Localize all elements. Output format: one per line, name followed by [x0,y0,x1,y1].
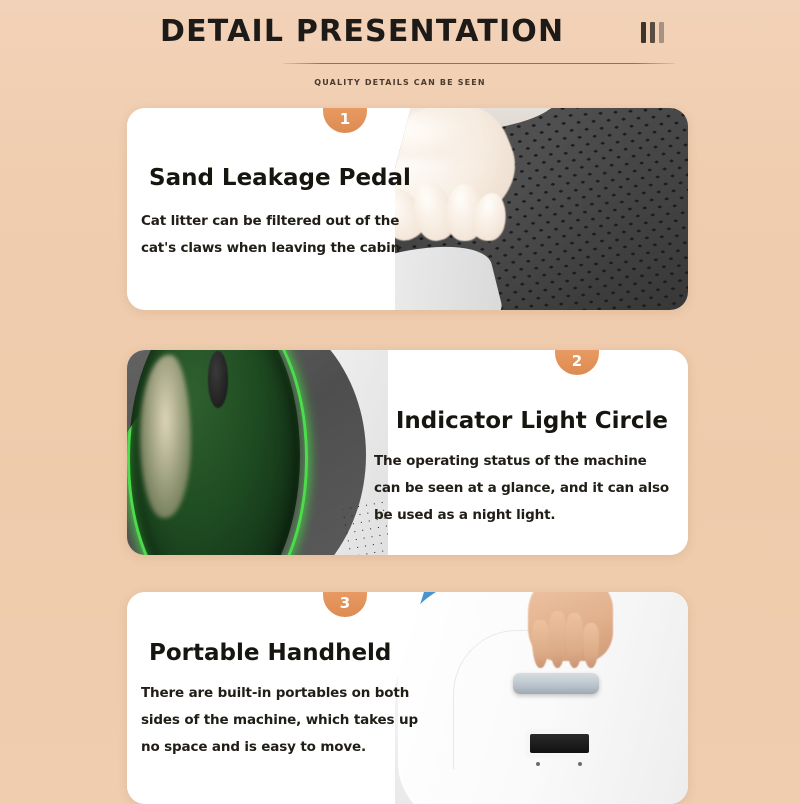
control-buttons [536,762,582,770]
human-hand [516,592,615,694]
card-body: There are built-in portables on both sid… [141,680,441,761]
finger [532,620,549,667]
bar-1 [641,22,646,43]
bar-2 [650,22,655,43]
card-body: The operating status of the machine can … [374,448,674,529]
display-panel [530,734,589,753]
page-background: DETAIL PRESENTATION QUALITY DETAILS CAN … [0,0,800,800]
card-body: Cat litter can be filtered out of the ca… [141,208,431,262]
page-header: DETAIL PRESENTATION QUALITY DETAILS CAN … [0,0,800,100]
page-title: DETAIL PRESENTATION [160,14,564,49]
control-button [536,762,540,766]
card-title: Portable Handheld [149,640,391,666]
signal-bars-icon [641,22,664,43]
control-button [578,762,582,766]
page-subtitle: QUALITY DETAILS CAN BE SEEN [0,78,800,87]
feature-card: 1 Sand Leakage Pedal Cat litter can be f… [127,108,688,310]
feature-card: 2 Indicator Light Circle The operating s… [127,350,688,555]
finger [566,613,583,668]
card-title: Indicator Light Circle [396,408,668,434]
card-title: Sand Leakage Pedal [149,165,411,191]
finger [549,611,566,668]
feature-card: 3 Portable Handheld There are built-in p… [127,592,688,804]
finger [583,623,599,668]
header-divider [283,63,675,64]
entry-ring-outer [127,350,366,555]
bar-3 [659,22,664,43]
